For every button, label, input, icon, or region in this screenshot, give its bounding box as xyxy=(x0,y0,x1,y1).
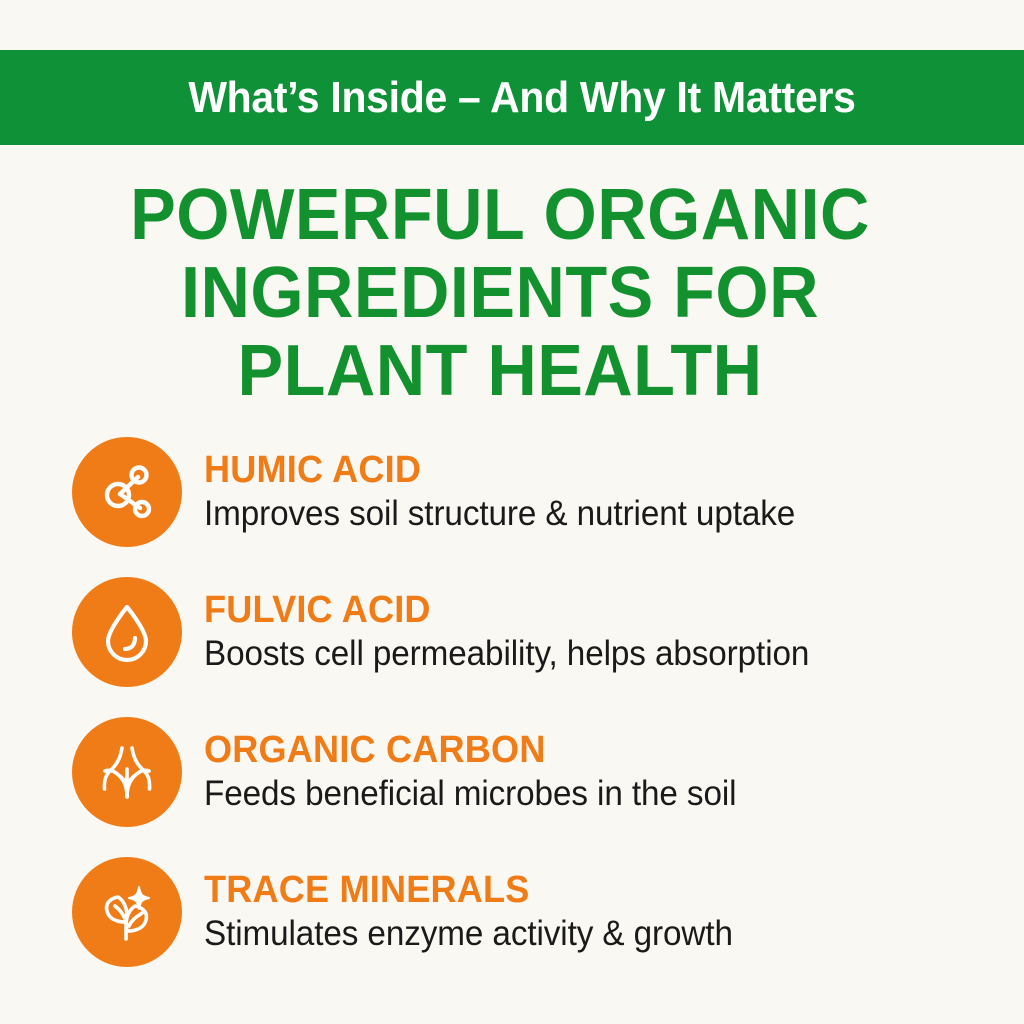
headline-line-3: PLANT HEALTH xyxy=(25,332,975,410)
ingredient-description: Stimulates enzyme activity & growth xyxy=(204,913,733,955)
ingredient-title: TRACE MINERALS xyxy=(204,869,733,911)
sprout-sparkle-icon-badge xyxy=(72,857,182,967)
headline-line-2: INGREDIENTS FOR xyxy=(25,254,975,332)
banner-title: What’s Inside – And Why It Matters xyxy=(168,76,856,120)
ingredient-title: ORGANIC CARBON xyxy=(204,729,736,771)
ingredient-row-trace-minerals: TRACE MINERALS Stimulates enzyme activit… xyxy=(72,852,972,972)
water-droplet-icon xyxy=(94,599,160,665)
ingredient-title: FULVIC ACID xyxy=(204,589,809,631)
ingredient-list: HUMIC ACID Improves soil structure & nut… xyxy=(72,432,972,972)
ingredient-description: Boosts cell permeability, helps absorpti… xyxy=(204,633,809,675)
infographic-page: { "banner": { "title": "What\u2019s Insi… xyxy=(0,0,1024,1024)
ingredient-row-humic-acid: HUMIC ACID Improves soil structure & nut… xyxy=(72,432,972,552)
molecule-network-icon-badge xyxy=(72,437,182,547)
ingredient-row-fulvic-acid: FULVIC ACID Boosts cell permeability, he… xyxy=(72,572,972,692)
ingredient-description: Improves soil structure & nutrient uptak… xyxy=(204,493,795,535)
ingredient-text-block: TRACE MINERALS Stimulates enzyme activit… xyxy=(204,869,761,955)
water-droplet-icon-badge xyxy=(72,577,182,687)
ingredient-description: Feeds beneficial microbes in the soil xyxy=(204,773,736,815)
plant-roots-icon-badge xyxy=(72,717,182,827)
ingredient-text-block: ORGANIC CARBON Feeds beneficial microbes… xyxy=(204,729,764,815)
header-banner: What’s Inside – And Why It Matters xyxy=(0,50,1024,145)
page-title: POWERFUL ORGANIC INGREDIENTS FOR PLANT H… xyxy=(0,176,1000,410)
ingredient-text-block: HUMIC ACID Improves soil structure & nut… xyxy=(204,449,826,535)
plant-roots-icon xyxy=(94,739,160,805)
headline-line-1: POWERFUL ORGANIC xyxy=(25,176,975,254)
molecule-network-icon xyxy=(94,459,160,525)
ingredient-title: HUMIC ACID xyxy=(204,449,795,491)
ingredient-text-block: FULVIC ACID Boosts cell permeability, he… xyxy=(204,589,841,675)
sprout-sparkle-icon xyxy=(94,879,160,945)
ingredient-row-organic-carbon: ORGANIC CARBON Feeds beneficial microbes… xyxy=(72,712,972,832)
